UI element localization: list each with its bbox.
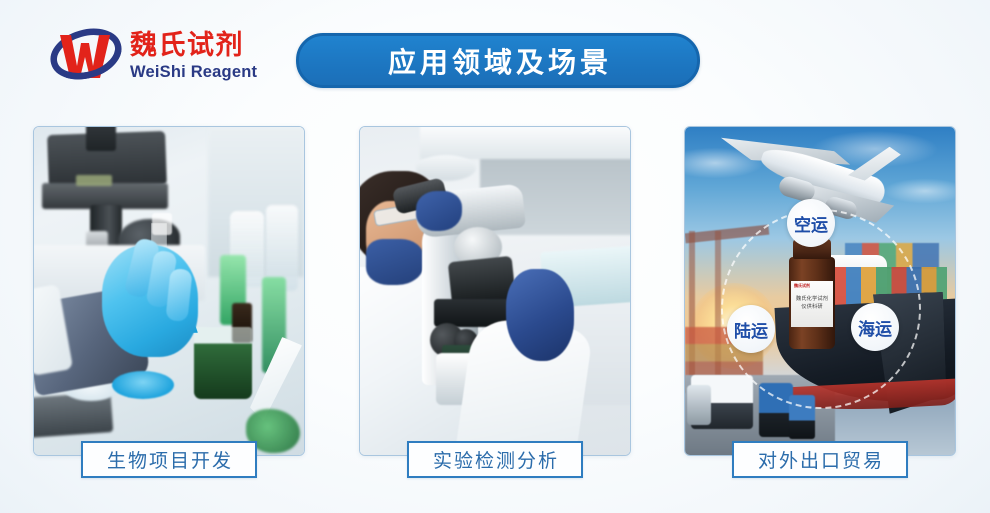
card-label-text: 对外出口贸易 (756, 446, 884, 473)
badge-air-freight-text: 空运 (794, 211, 828, 236)
card-biological-project-development[interactable]: 生物项目开发 (33, 126, 305, 456)
card-foreign-export-trade[interactable]: 魏氏试剂 魏氏化学试剂 仪供科研 空运 陆运 海运 对外出口贸易 (684, 126, 956, 456)
card-label-box: 实验检测分析 (407, 441, 583, 478)
badge-air-freight: 空运 (787, 199, 835, 247)
photo-export-logistics: 魏氏试剂 魏氏化学试剂 仪供科研 空运 陆运 海运 (685, 127, 955, 455)
badge-land-freight: 陆运 (727, 305, 775, 353)
badge-sea-freight: 海运 (851, 303, 899, 351)
badge-land-freight-text: 陆运 (734, 317, 768, 342)
section-title-banner: 应用领域及场景 (296, 33, 700, 88)
card-label-box: 对外出口贸易 (732, 441, 908, 478)
bottle-logo-text: 魏氏试剂 (794, 283, 810, 289)
page-header: 魏氏试剂 WeiShi Reagent 应用领域及场景 (0, 0, 990, 118)
reagent-bottle-label: 魏氏试剂 魏氏化学试剂 仪供科研 (791, 281, 833, 327)
brand-name-en: WeiShi Reagent (130, 64, 257, 81)
badge-sea-freight-text: 海运 (858, 315, 892, 340)
reagent-bottle: 魏氏试剂 魏氏化学试剂 仪供科研 (789, 239, 835, 349)
card-label-box: 生物项目开发 (81, 441, 257, 478)
page-title: 应用领域及场景 (384, 41, 612, 81)
weishi-w-swoosh-icon (48, 26, 124, 84)
photo-microscope-scientist (360, 127, 630, 455)
bottle-label-line1: 魏氏化学试剂 (791, 295, 833, 303)
brand-text-block: 魏氏试剂 WeiShi Reagent (130, 30, 257, 81)
brand-logo[interactable]: 魏氏试剂 WeiShi Reagent (48, 26, 257, 84)
card-experimental-testing-analysis[interactable]: 实验检测分析 (359, 126, 631, 456)
photo-lab-flask (34, 127, 304, 455)
application-scenario-cards: 生物项目开发 (0, 126, 990, 466)
card-label-text: 生物项目开发 (105, 446, 233, 473)
bottle-label-line2: 仪供科研 (791, 303, 833, 311)
brand-name-cn: 魏氏试剂 (130, 32, 244, 59)
card-label-text: 实验检测分析 (431, 446, 559, 473)
